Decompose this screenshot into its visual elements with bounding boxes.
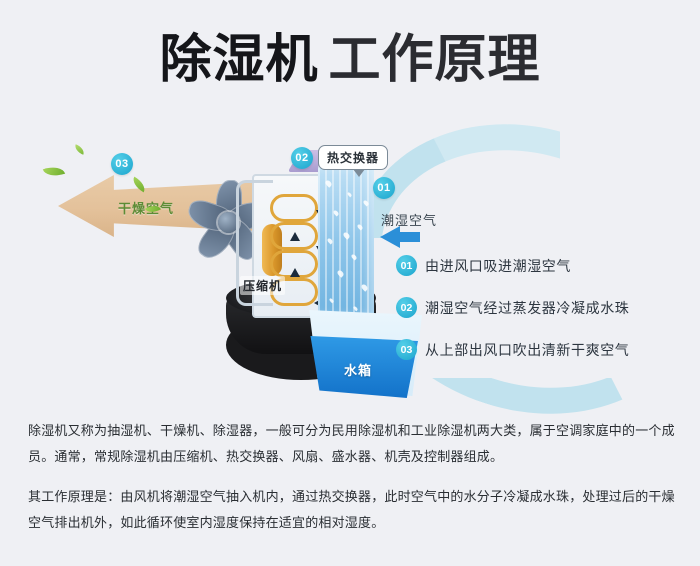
air-intake-arrow-tail [398, 232, 420, 242]
title-part-1: 除湿机 [159, 31, 318, 89]
water-droplet-icon [332, 209, 339, 216]
legend-badge-02: 02 [396, 297, 417, 318]
body-paragraph-1: 除湿机又称为抽湿机、干燥机、除湿器，一般可分为民用除湿机和工业除湿机两大类，属于… [28, 418, 676, 470]
humid-air-label: 潮湿空气 [381, 210, 437, 229]
air-intake-arrow-icon [380, 226, 400, 248]
flow-arrow-up-icon [290, 268, 300, 277]
water-droplet-icon [362, 199, 369, 206]
water-tank-label: 水箱 [344, 360, 372, 379]
legend-item: 03 从上部出风口吹出清新干爽空气 [396, 339, 686, 360]
water-droplet-icon [353, 306, 359, 312]
legend-text-03: 从上部出风口吹出清新干爽空气 [425, 340, 629, 360]
legend-text-01: 由进风口吸进潮湿空气 [425, 256, 571, 276]
legend-text-02: 潮湿空气经过蒸发器冷凝成水珠 [425, 298, 629, 318]
diagram-badge-02: 02 [291, 147, 313, 169]
water-droplet-icon [336, 269, 344, 277]
water-droplet-icon [329, 298, 335, 304]
legend-item: 02 潮湿空气经过蒸发器冷凝成水珠 [396, 297, 686, 318]
page-title: 除湿机工作原理 [0, 30, 700, 90]
coil-tube [270, 194, 318, 222]
body-copy: 除湿机又称为抽湿机、干燥机、除湿器，一般可分为民用除湿机和工业除湿机两大类，属于… [28, 418, 676, 550]
leaf-icon [43, 163, 65, 180]
heat-exchanger-callout: 热交换器 [318, 145, 388, 170]
compressor-label: 压缩机 [240, 276, 285, 295]
diagram-badge-03: 03 [111, 153, 133, 175]
water-droplet-icon [326, 237, 333, 244]
legend-badge-01: 01 [396, 255, 417, 276]
arc-mask-upper [560, 120, 700, 270]
legend-list: 01 由进风口吸进潮湿空气 02 潮湿空气经过蒸发器冷凝成水珠 03 从上部出风… [396, 255, 686, 381]
water-droplet-icon [356, 223, 363, 230]
water-droplet-icon [347, 192, 353, 198]
water-droplet-icon [360, 283, 368, 291]
infographic-page: 除湿机工作原理 干燥空气 [0, 0, 700, 566]
legend-item: 01 由进风口吸进潮湿空气 [396, 255, 686, 276]
water-droplet-icon [342, 231, 350, 239]
body-paragraph-2: 其工作原理是：由风机将潮湿空气抽入机内，通过热交换器，此时空气中的水分子冷凝成水… [28, 484, 676, 536]
leaf-icon [73, 144, 86, 155]
title-part-2: 工作原理 [329, 31, 541, 89]
diagram-badge-01: 01 [373, 177, 395, 199]
flow-arrow-up-icon [290, 232, 300, 241]
legend-badge-03: 03 [396, 339, 417, 360]
water-droplet-icon [324, 179, 332, 187]
water-droplet-icon [350, 253, 357, 260]
evaporator-fins [318, 166, 374, 316]
